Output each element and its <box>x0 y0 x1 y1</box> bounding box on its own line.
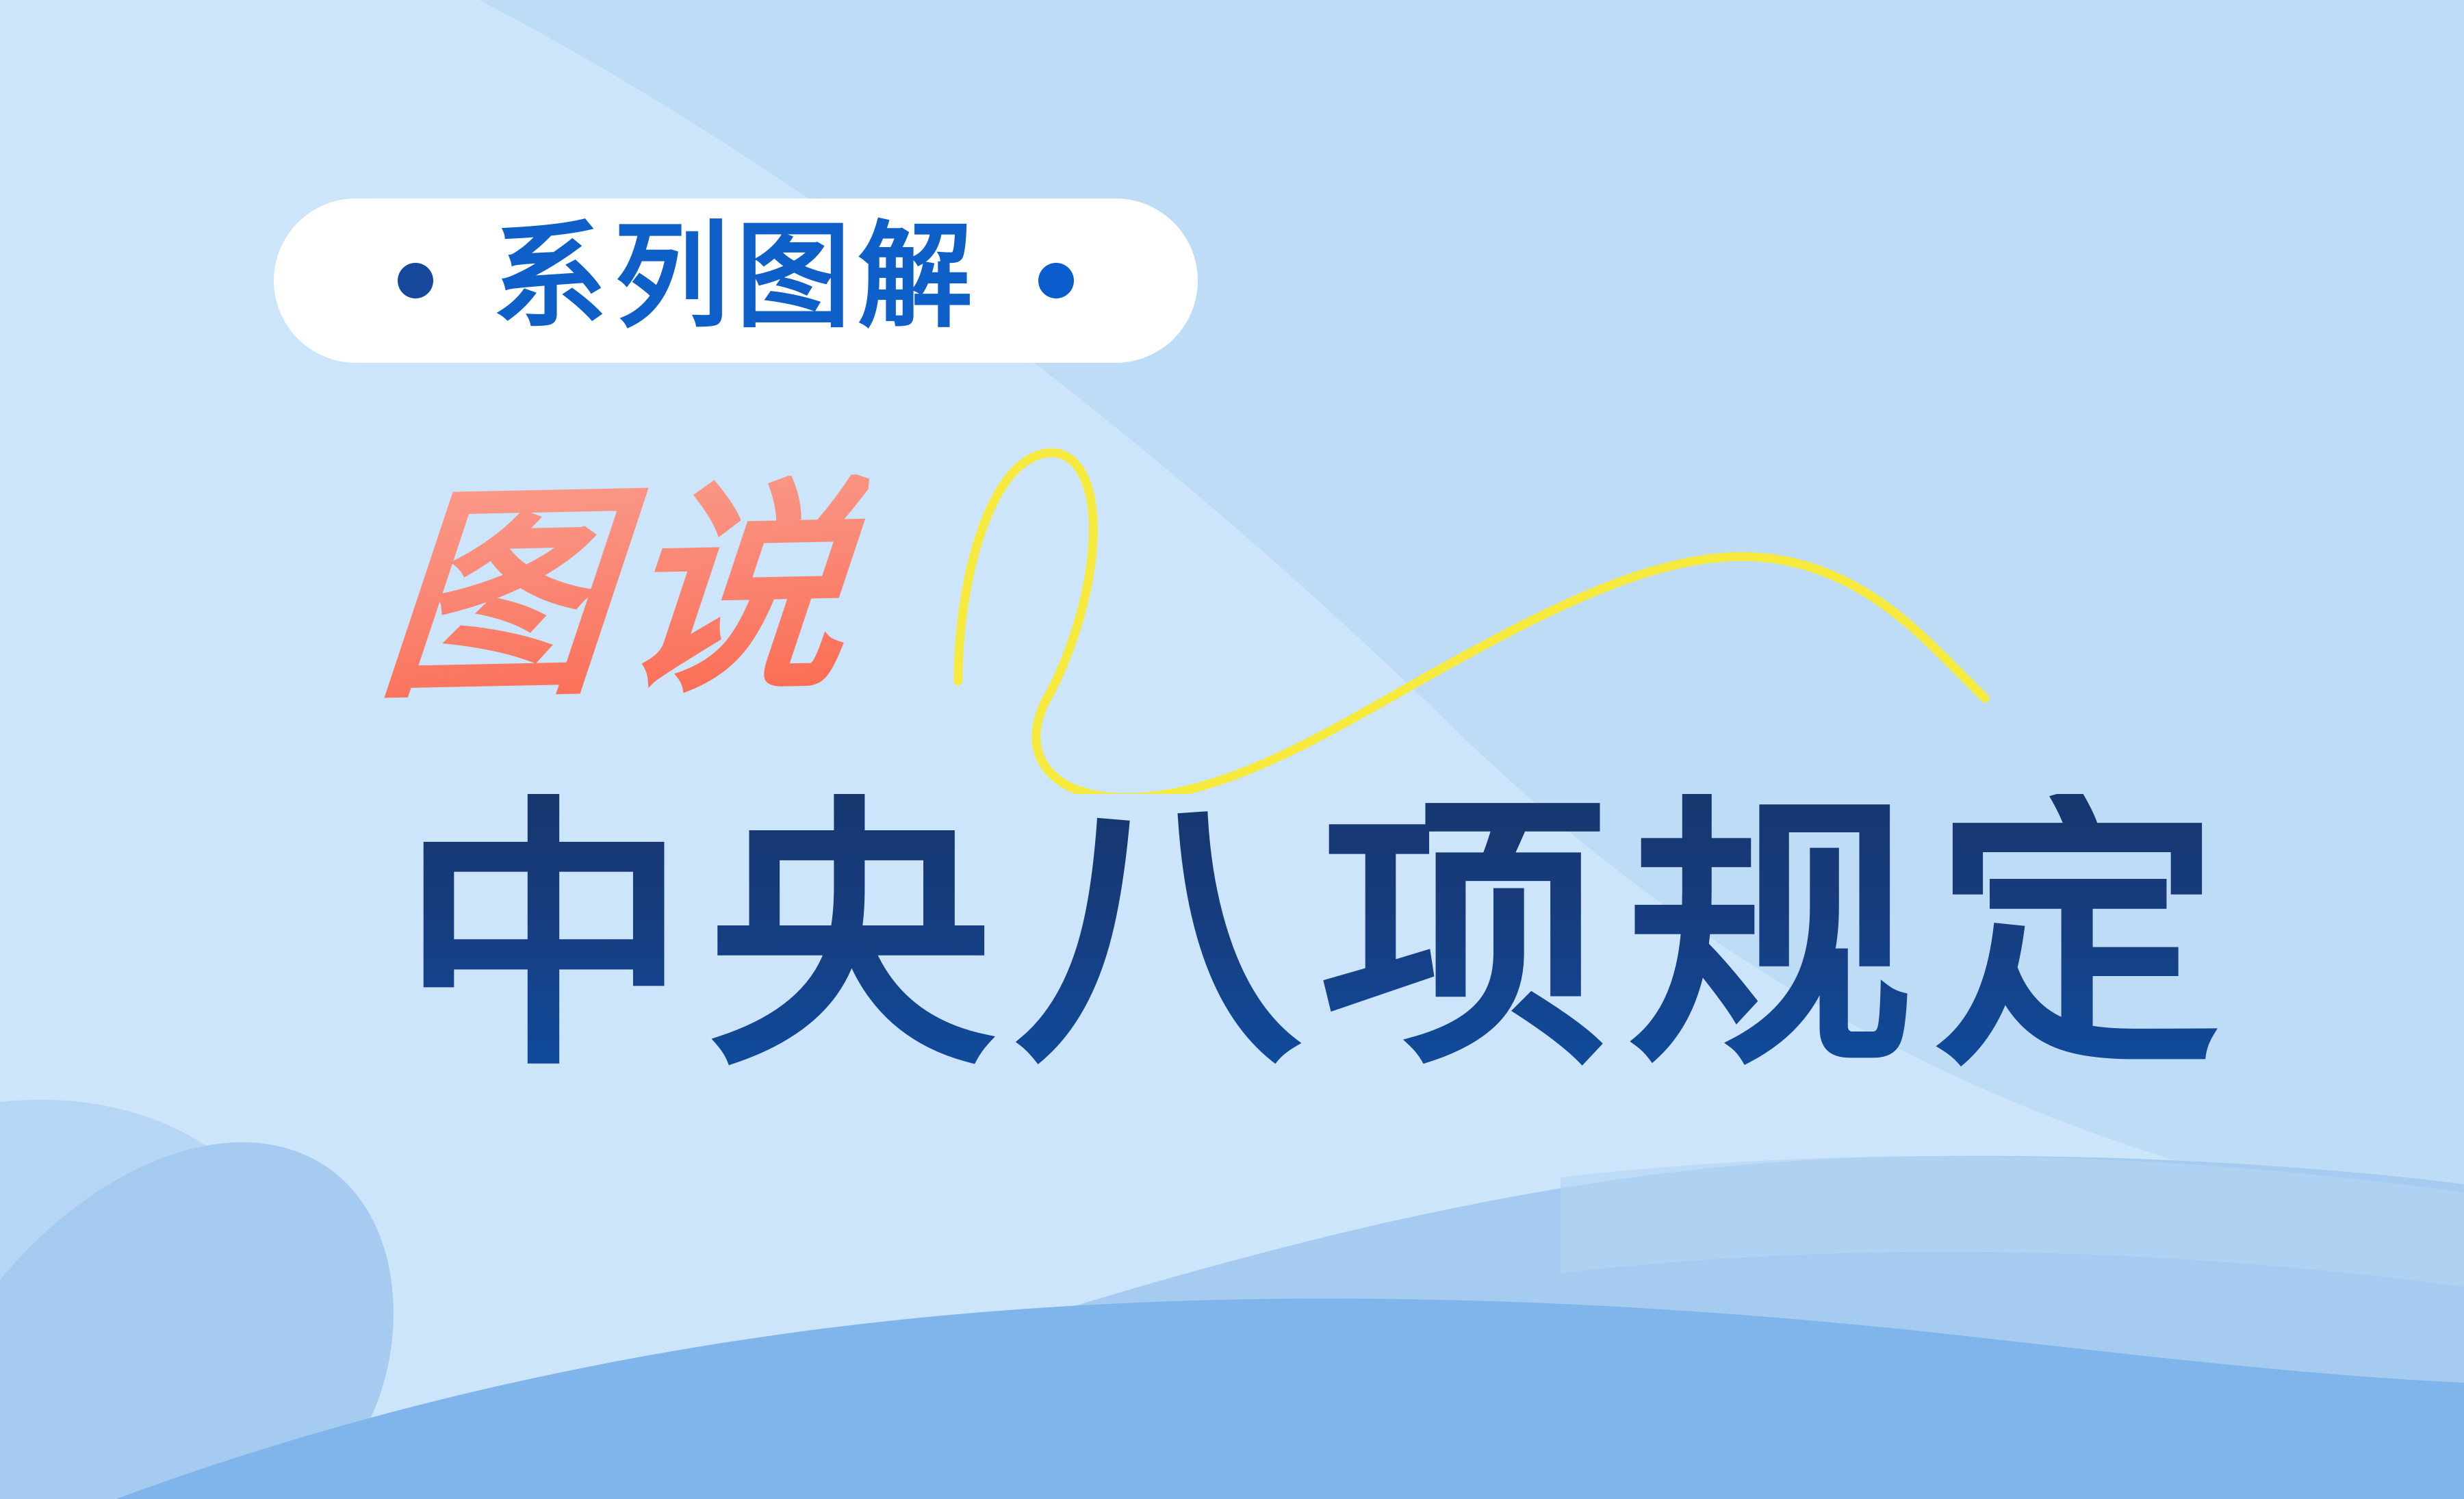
calligraphy-subtitle: 图说 <box>373 474 869 710</box>
page-title: 中央八项规定 <box>400 794 2240 1081</box>
series-badge[interactable]: 系列图解 <box>274 198 1198 363</box>
poster-canvas: 系列图解 图说 中央八项规定 <box>0 0 2464 1499</box>
badge-left-dot-icon <box>398 263 433 298</box>
badge-label: 系列图解 <box>492 219 979 334</box>
badge-right-dot-icon <box>1038 263 1074 298</box>
